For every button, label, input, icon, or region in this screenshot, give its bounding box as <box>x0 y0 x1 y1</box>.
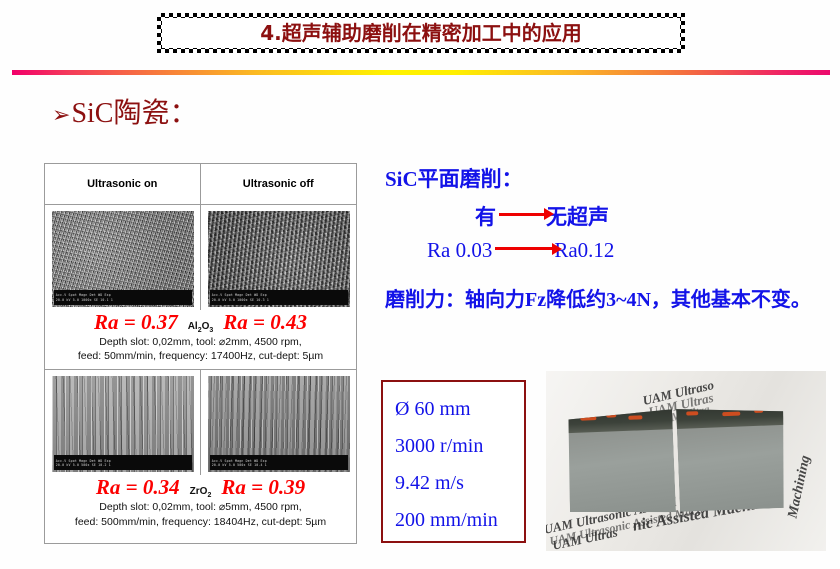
sem-image-pair-zro2: Acc.V Spot Magn Det WD Exp 20.0 kV 5.0 5… <box>45 370 356 475</box>
parameter-diameter: Ø 60 mm <box>395 391 524 428</box>
gradient-divider <box>12 70 830 75</box>
ra-values-row-al2o3: Ra = 0.37 Al2O3 Ra = 0.43 <box>45 311 356 334</box>
parameter-spindle-speed: 3000 r/min <box>395 428 524 465</box>
ceramic-sample-left <box>566 407 676 516</box>
ra-value-ultrasonic-off: Ra = 0.43 <box>223 311 307 333</box>
sem-caption-line-2: 20.0 kV 5.0 1000x SE 10.1 1 <box>56 298 113 302</box>
edge-highlight <box>606 413 616 417</box>
slide-title-banner: 4.超声辅助磨削在精密加工中的应用 <box>157 13 685 53</box>
comparison-table: Ultrasonic on Ultrasonic off Acc.V Spot … <box>44 163 357 544</box>
condition-without-ultrasonic: 无超声 <box>546 201 609 231</box>
edge-highlight <box>628 415 642 420</box>
table-row: Acc.V Spot Magn Det WD Exp 20.0 kV 5.0 1… <box>45 205 356 370</box>
process-parameters-zro2: Depth slot: 0,02mm, tool: ⌀5mm, 4500 rpm… <box>45 499 356 534</box>
edge-highlight <box>686 411 698 415</box>
section-heading: ➢ SiC陶瓷： <box>52 100 197 128</box>
table-header-cell-on: Ultrasonic on <box>45 164 201 204</box>
ra-with-ultrasonic: Ra 0.03 <box>427 238 492 263</box>
grinding-force-note: 磨削力：轴向力Fz降低约3~4N，其他基本不变。 <box>385 285 815 315</box>
parameter-line-1: Depth slot: 0,02mm, tool: ⌀5mm, 4500 rpm… <box>47 500 354 514</box>
ra-without-ultrasonic: Ra0.12 <box>554 238 614 263</box>
right-arrow-icon <box>495 247 553 250</box>
ra-values-row-zro2: Ra = 0.34 ZrO2 Ra = 0.39 <box>45 476 356 499</box>
sem-info-bar: Acc.V Spot Magn Det WD Exp 20.0 kV 5.0 5… <box>210 455 348 470</box>
sem-caption-line-2: 20.0 kV 5.0 1000x SE 10.3 1 <box>212 298 269 302</box>
sem-cell-on-zro2: Acc.V Spot Magn Det WD Exp 20.0 kV 5.0 5… <box>45 370 201 475</box>
ceramic-sample-right <box>676 403 788 512</box>
sem-caption-line-2: 20.0 kV 5.0 500x SE 10.2 1 <box>56 463 111 467</box>
ra-value-ultrasonic-on: Ra = 0.34 <box>96 476 180 498</box>
table-header-row: Ultrasonic on Ultrasonic off <box>45 164 356 205</box>
process-parameters-al2o3: Depth slot: 0,02mm, tool: ⌀2mm, 4500 rpm… <box>45 334 356 369</box>
section-heading-label: SiC陶瓷： <box>71 100 197 128</box>
sem-cell-off-zro2: Acc.V Spot Magn Det WD Exp 20.0 kV 5.0 5… <box>201 370 357 475</box>
sem-caption-line-1: Acc.V Spot Magn Det WD Exp <box>212 293 269 297</box>
sem-cell-off-al2o3: Acc.V Spot Magn Det WD Exp 20.0 kV 5.0 1… <box>201 205 357 310</box>
ceramic-sample-pair <box>566 403 788 516</box>
sample-top-edge <box>566 407 673 433</box>
condition-with-ultrasonic: 有 <box>475 201 496 231</box>
sem-info-bar: Acc.V Spot Magn Det WD Exp 20.0 kV 5.0 1… <box>54 290 192 305</box>
ultrasonic-on-header: Ultrasonic on <box>45 164 200 204</box>
parameter-cutting-speed: 9.42 m/s <box>395 465 524 502</box>
machining-parameter-box: Ø 60 mm 3000 r/min 9.42 m/s 200 mm/min <box>381 380 526 543</box>
arrow-bullet-icon: ➢ <box>52 105 70 127</box>
sem-caption-line-2: 20.0 kV 5.0 500x SE 10.4 1 <box>212 463 267 467</box>
sem-caption-line-1: Acc.V Spot Magn Det WD Exp <box>56 293 113 297</box>
sample-top-edge <box>676 403 785 429</box>
parameter-line-2: feed: 500mm/min, frequency: 18404Hz, cut… <box>47 515 354 529</box>
table-row: Acc.V Spot Magn Det WD Exp 20.0 kV 5.0 5… <box>45 370 356 534</box>
comparison-arrow-row-condition: 有 无超声 <box>475 201 825 231</box>
sem-image-ultrasonic-on-al2o3: Acc.V Spot Magn Det WD Exp 20.0 kV 5.0 1… <box>52 211 194 307</box>
page-title: 4.超声辅助磨削在精密加工中的应用 <box>260 23 582 43</box>
sem-info-bar: Acc.V Spot Magn Det WD Exp 20.0 kV 5.0 1… <box>210 290 348 305</box>
material-label-zro2: ZrO2 <box>190 486 212 499</box>
ra-value-ultrasonic-off: Ra = 0.39 <box>221 476 305 498</box>
edge-highlight <box>722 412 740 417</box>
table-header-cell-off: Ultrasonic off <box>201 164 357 204</box>
parameter-line-1: Depth slot: 0,02mm, tool: ⌀2mm, 4500 rpm… <box>47 335 354 349</box>
ra-value-ultrasonic-on: Ra = 0.37 <box>94 311 178 333</box>
sem-image-ultrasonic-off-al2o3: Acc.V Spot Magn Det WD Exp 20.0 kV 5.0 1… <box>208 211 350 307</box>
sample-photograph: UAM Ultraso UAM Ultras UAM Ultra UAM Ult… <box>546 371 826 551</box>
sic-grinding-title: SiC平面磨削： <box>385 168 825 191</box>
material-label-al2o3: Al2O3 <box>188 321 214 334</box>
comparison-arrow-row-ra: Ra 0.03 Ra0.12 <box>427 238 825 263</box>
parameter-line-2: feed: 50mm/min, frequency: 17400Hz, cut-… <box>47 349 354 363</box>
right-text-column: SiC平面磨削： 有 无超声 Ra 0.03 Ra0.12 磨削力：轴向力Fz降… <box>385 168 825 315</box>
sem-image-pair-al2o3: Acc.V Spot Magn Det WD Exp 20.0 kV 5.0 1… <box>45 205 356 310</box>
right-arrow-icon <box>499 213 545 216</box>
sem-image-ultrasonic-off-zro2: Acc.V Spot Magn Det WD Exp 20.0 kV 5.0 5… <box>208 376 350 472</box>
slide-title-inner: 4.超声辅助磨削在精密加工中的应用 <box>162 18 680 48</box>
edge-highlight <box>754 409 763 413</box>
sem-info-bar: Acc.V Spot Magn Det WD Exp 20.0 kV 5.0 5… <box>54 455 192 470</box>
ultrasonic-off-header: Ultrasonic off <box>201 164 357 204</box>
sem-image-ultrasonic-on-zro2: Acc.V Spot Magn Det WD Exp 20.0 kV 5.0 5… <box>52 376 194 472</box>
sem-cell-on-al2o3: Acc.V Spot Magn Det WD Exp 20.0 kV 5.0 1… <box>45 205 201 310</box>
parameter-feed-rate: 200 mm/min <box>395 502 524 539</box>
edge-highlight <box>580 416 596 421</box>
